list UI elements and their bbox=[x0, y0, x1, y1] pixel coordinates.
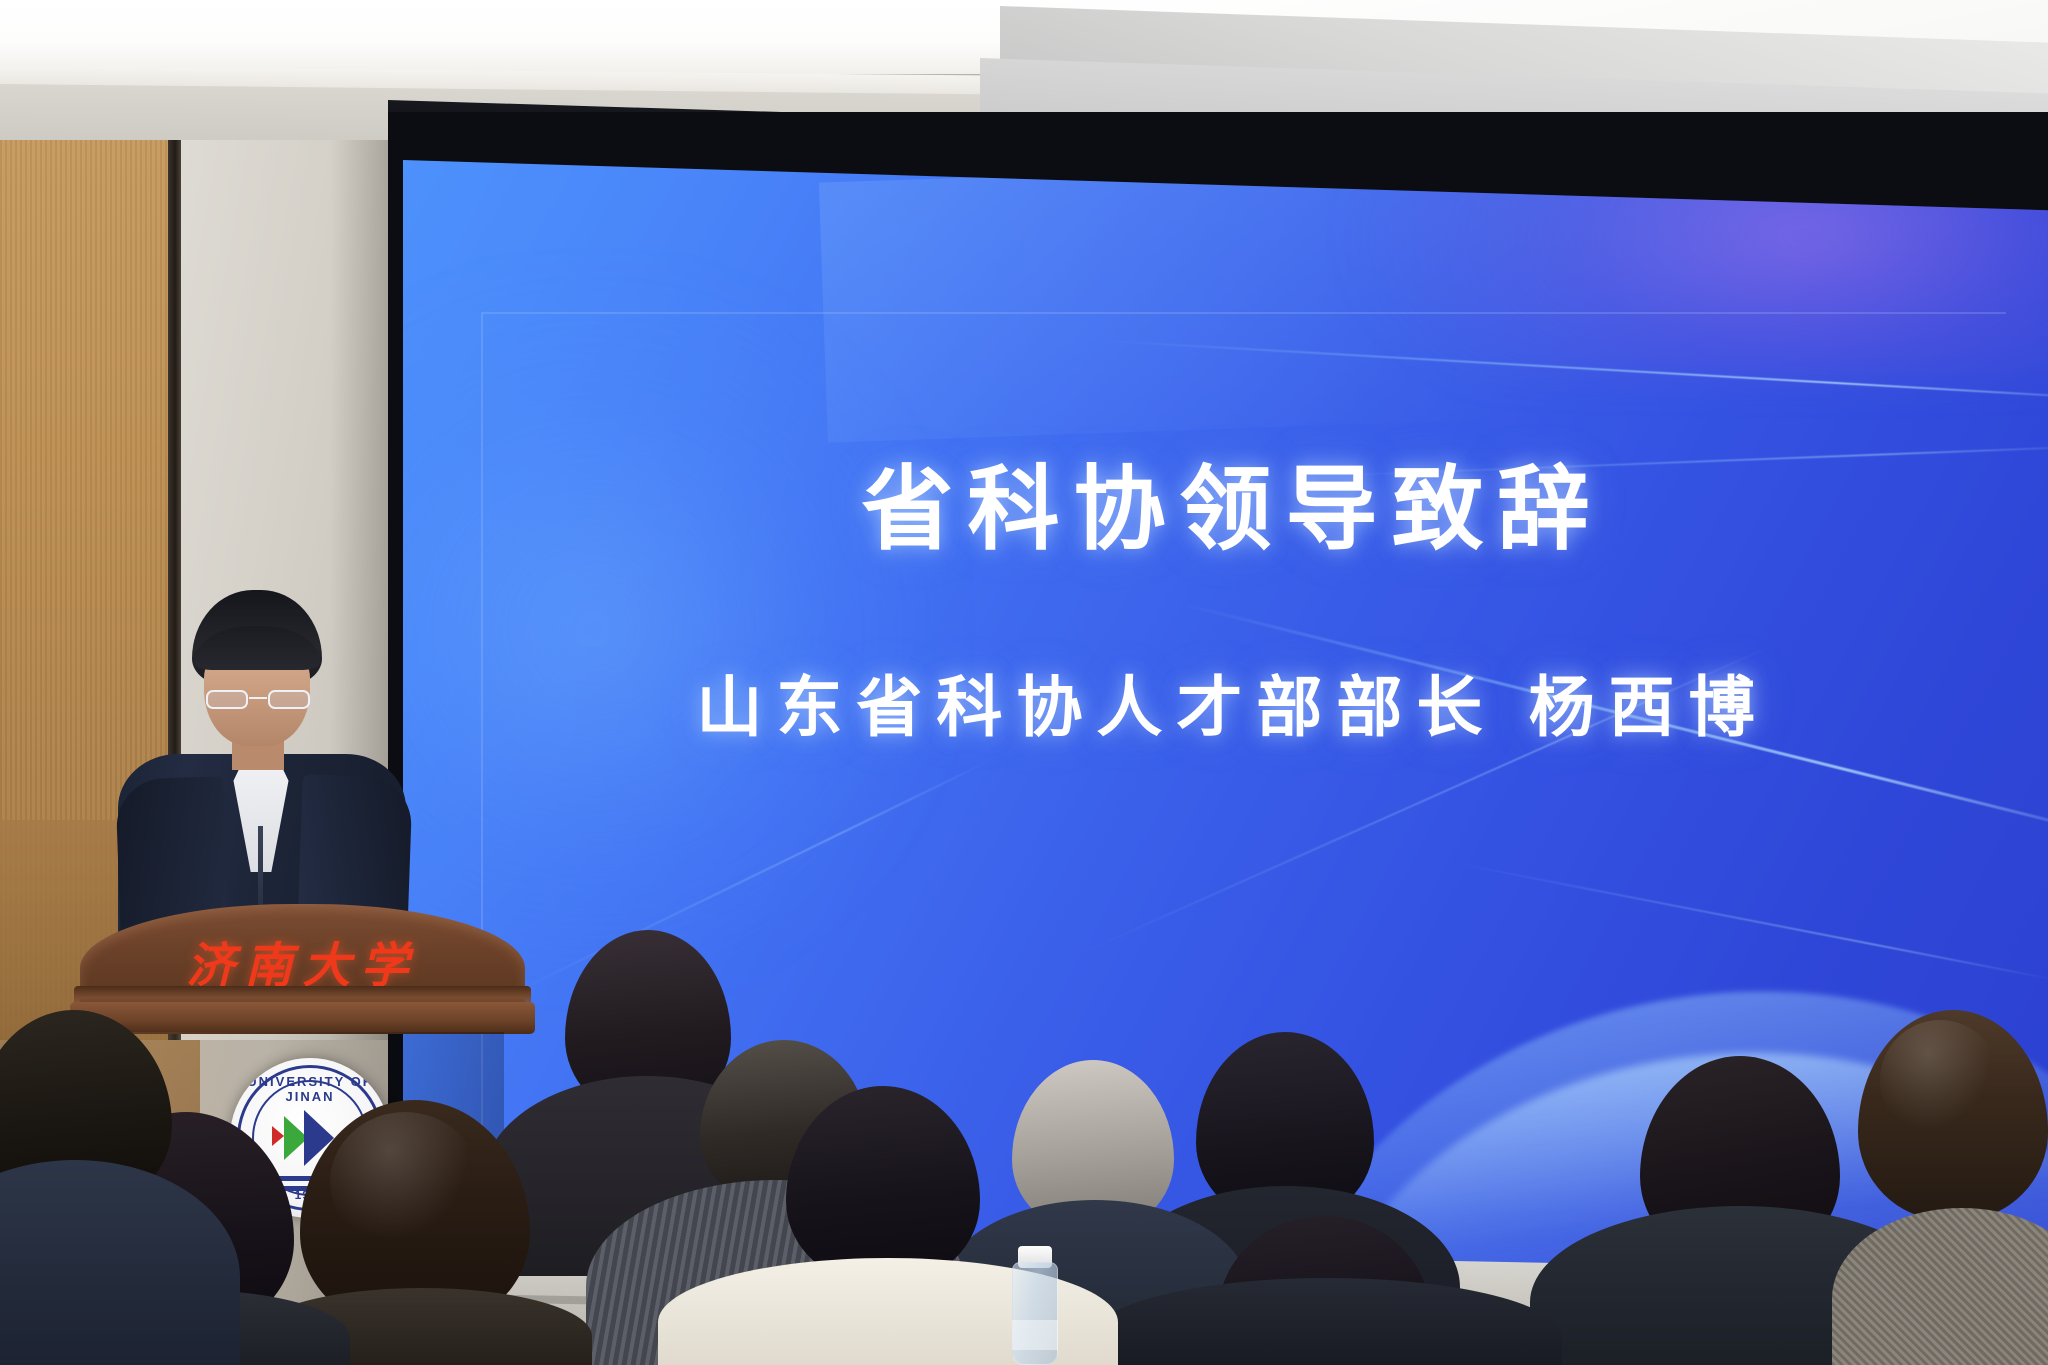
bottle-label bbox=[1012, 1320, 1058, 1350]
slide-text-block: 省科协领导致辞 山东省科协人才部部长 杨西博 bbox=[403, 460, 2048, 744]
glasses-lens-left bbox=[206, 690, 248, 709]
hair-highlight bbox=[330, 1112, 480, 1252]
podium-cap-moulding bbox=[70, 1002, 535, 1034]
hair-highlight bbox=[1880, 1020, 2000, 1140]
slide-subtitle: 山东省科协人才部部长 杨西博 bbox=[403, 671, 2048, 744]
slide-title: 省科协领导致辞 bbox=[403, 460, 2048, 561]
glasses-bridge bbox=[249, 697, 267, 699]
speaker-glasses bbox=[204, 690, 312, 710]
emblem-chevron-red-icon bbox=[272, 1126, 284, 1146]
conference-photo-scene: 省科协领导致辞 山东省科协人才部部长 杨西博 济南大学 bbox=[0, 0, 2048, 1365]
emblem-university-text: UNIVERSITY OF JINAN bbox=[230, 1074, 390, 1104]
glasses-lens-right bbox=[268, 690, 310, 709]
speaker-at-podium bbox=[100, 590, 420, 920]
